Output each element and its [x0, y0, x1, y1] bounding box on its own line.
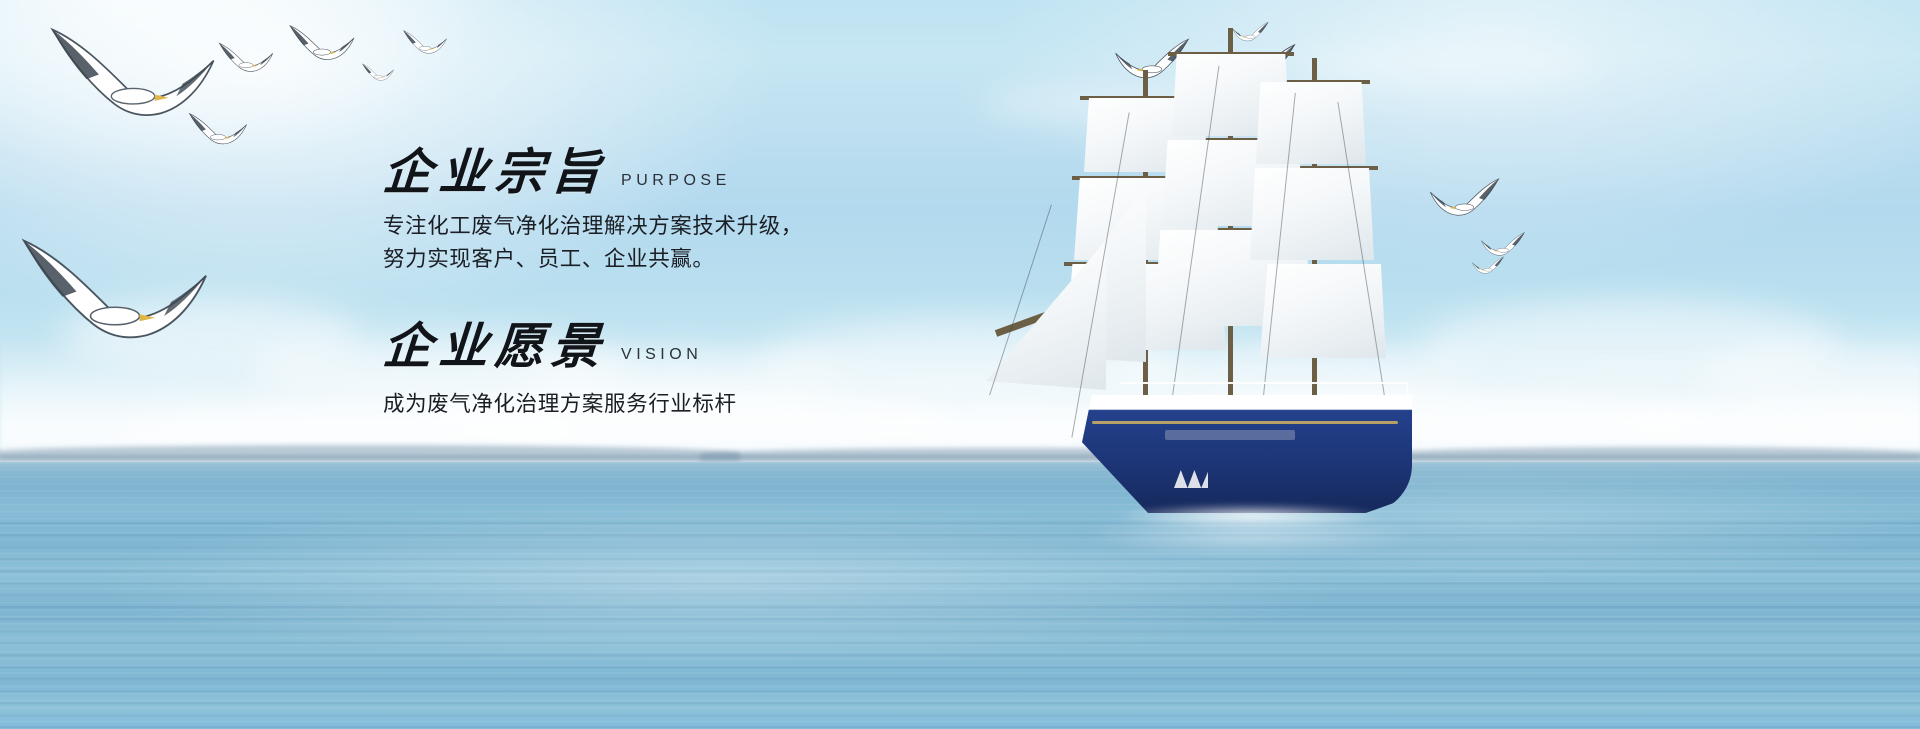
purpose-title-cn: 企业宗旨 — [381, 148, 608, 197]
ship-name-plate — [1165, 430, 1295, 440]
deck-rail — [1120, 382, 1408, 398]
ship-hull — [1082, 395, 1412, 513]
vision-block: 企业愿景 VISION 成为废气净化治理方案服务行业标杆 — [383, 322, 943, 421]
purpose-body-line: 专注化工废气净化治理解决方案技术升级， — [383, 210, 943, 243]
banner-text-content: 企业宗旨 PURPOSE 专注化工废气净化治理解决方案技术升级， 努力实现客户、… — [383, 148, 943, 421]
vision-title-en: VISION — [621, 346, 702, 371]
purpose-heading-row: 企业宗旨 PURPOSE — [383, 148, 943, 197]
vision-body-line: 成为废气净化治理方案服务行业标杆 — [383, 388, 943, 421]
purpose-body: 专注化工废气净化治理解决方案技术升级， 努力实现客户、员工、企业共赢。 — [383, 210, 943, 276]
seagull-icon — [10, 230, 220, 353]
sailing-ship-icon — [960, 0, 1480, 560]
hull-stripe — [1092, 421, 1398, 424]
vision-heading-row: 企业愿景 VISION — [383, 322, 943, 371]
seagull-icon — [360, 62, 396, 83]
seagull-icon — [215, 40, 277, 76]
purpose-block: 企业宗旨 PURPOSE 专注化工废气净化治理解决方案技术升级， 努力实现客户、… — [383, 148, 943, 276]
vision-title-cn: 企业愿景 — [381, 322, 608, 371]
seagull-icon — [285, 22, 359, 65]
ship-reflection — [1020, 512, 1480, 572]
hero-banner: 企业宗旨 PURPOSE 专注化工废气净化治理解决方案技术升级， 努力实现客户、… — [0, 0, 1920, 729]
seagull-icon — [400, 28, 450, 57]
purpose-body-line: 努力实现客户、员工、企业共赢。 — [383, 243, 943, 276]
seagull-icon — [185, 110, 251, 149]
purpose-title-en: PURPOSE — [621, 172, 731, 197]
vision-body: 成为废气净化治理方案服务行业标杆 — [383, 388, 943, 421]
